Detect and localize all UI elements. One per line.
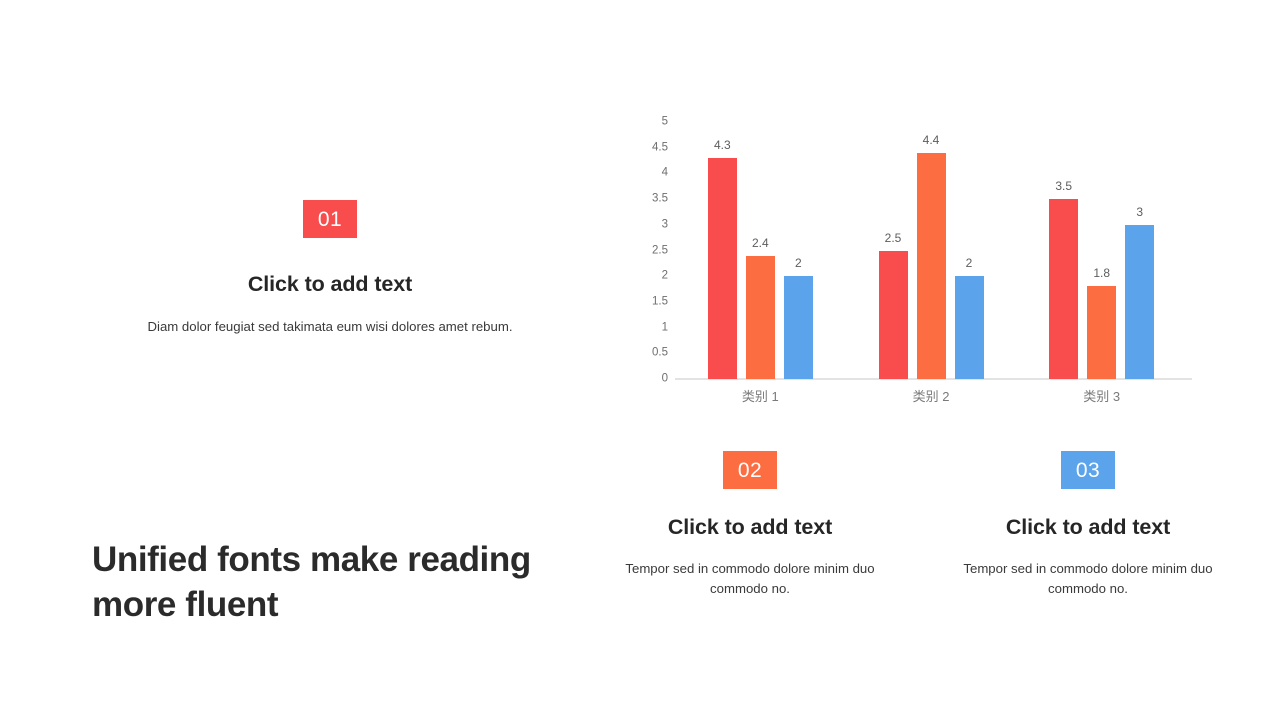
number-badge-02-text: 02 [738,460,762,481]
chart-bar-wrapper[interactable]: 2 [955,122,984,379]
chart-bar[interactable] [784,276,813,379]
content-block-03[interactable]: 03 Click to add text Tempor sed in commo… [963,451,1213,600]
y-axis-tick: 4 [662,168,668,180]
chart-inner: 54.543.532.521.510.50 4.32.422.54.423.51… [640,122,1192,420]
chart-bar-wrapper[interactable]: 2.4 [746,122,775,379]
number-badge-02: 02 [723,451,777,489]
number-badge-01: 01 [303,200,357,238]
y-axis-tick: 3.5 [652,193,668,205]
y-axis-tick: 3 [662,219,668,231]
y-axis-tick: 0.5 [652,348,668,360]
y-axis-tick: 1.5 [652,296,668,308]
chart-bar-value-label: 2.4 [752,237,769,249]
chart-bar[interactable] [879,251,908,380]
chart-bar[interactable] [1049,199,1078,379]
block-02-body[interactable]: Tempor sed in commodo dolore minim duo c… [625,559,875,600]
block-01-body[interactable]: Diam dolor feugiat sed takimata eum wisi… [147,317,512,337]
chart-x-axis: 类别 1类别 2类别 3 [675,390,1187,403]
chart-bar-value-label: 2.5 [885,232,902,244]
chart-bar-value-label: 4.3 [714,139,731,151]
x-axis-category-label: 类别 3 [1016,390,1187,403]
chart-bar-group: 4.32.42 [675,122,846,379]
chart-bar-value-label: 3 [1136,206,1143,218]
chart-bar-value-label: 2 [795,257,802,269]
number-badge-01-text: 01 [318,209,342,230]
chart-bar-value-label: 1.8 [1093,267,1110,279]
content-block-01[interactable]: 01 Click to add text Diam dolor feugiat … [90,200,570,337]
chart-bar-wrapper[interactable]: 4.4 [917,122,946,379]
chart-bar-wrapper[interactable]: 4.3 [708,122,737,379]
chart-plot-area: 4.32.422.54.423.51.83 [675,122,1187,379]
chart-bar-groups: 4.32.422.54.423.51.83 [675,122,1187,379]
slide-canvas: 01 Click to add text Diam dolor feugiat … [0,0,1280,720]
y-axis-tick: 2.5 [652,245,668,257]
chart-bar-wrapper[interactable]: 3.5 [1049,122,1078,379]
x-axis-category-label: 类别 2 [846,390,1017,403]
y-axis-tick: 5 [662,116,668,128]
chart-y-axis: 54.543.532.521.510.50 [640,122,668,379]
chart-bar-value-label: 2 [966,257,973,269]
chart-bar-wrapper[interactable]: 2.5 [879,122,908,379]
content-block-02[interactable]: 02 Click to add text Tempor sed in commo… [625,451,875,600]
block-03-title[interactable]: Click to add text [1006,515,1170,540]
x-axis-category-label: 类别 1 [675,390,846,403]
chart-bar-value-label: 3.5 [1055,180,1072,192]
chart-bar[interactable] [917,153,946,379]
chart-bar[interactable] [746,256,775,379]
chart-bar-group: 3.51.83 [1016,122,1187,379]
chart-bar[interactable] [708,158,737,379]
number-badge-03: 03 [1061,451,1115,489]
chart-bar-wrapper[interactable]: 1.8 [1087,122,1116,379]
bar-chart[interactable]: 54.543.532.521.510.50 4.32.422.54.423.51… [640,122,1192,420]
chart-bar-group: 2.54.42 [846,122,1017,379]
chart-bar[interactable] [1125,225,1154,379]
y-axis-tick: 4.5 [652,142,668,154]
y-axis-tick: 2 [662,270,668,282]
chart-bar[interactable] [1087,286,1116,379]
chart-bar-wrapper[interactable]: 2 [784,122,813,379]
block-01-title[interactable]: Click to add text [248,272,412,297]
chart-bar-value-label: 4.4 [923,134,940,146]
chart-bar-wrapper[interactable]: 3 [1125,122,1154,379]
number-badge-03-text: 03 [1076,460,1100,481]
y-axis-tick: 0 [662,373,668,385]
block-03-body[interactable]: Tempor sed in commodo dolore minim duo c… [963,559,1213,600]
chart-bar[interactable] [955,276,984,379]
block-02-title[interactable]: Click to add text [668,515,832,540]
y-axis-tick: 1 [662,322,668,334]
page-title[interactable]: Unified fonts make reading more fluent [92,538,612,628]
